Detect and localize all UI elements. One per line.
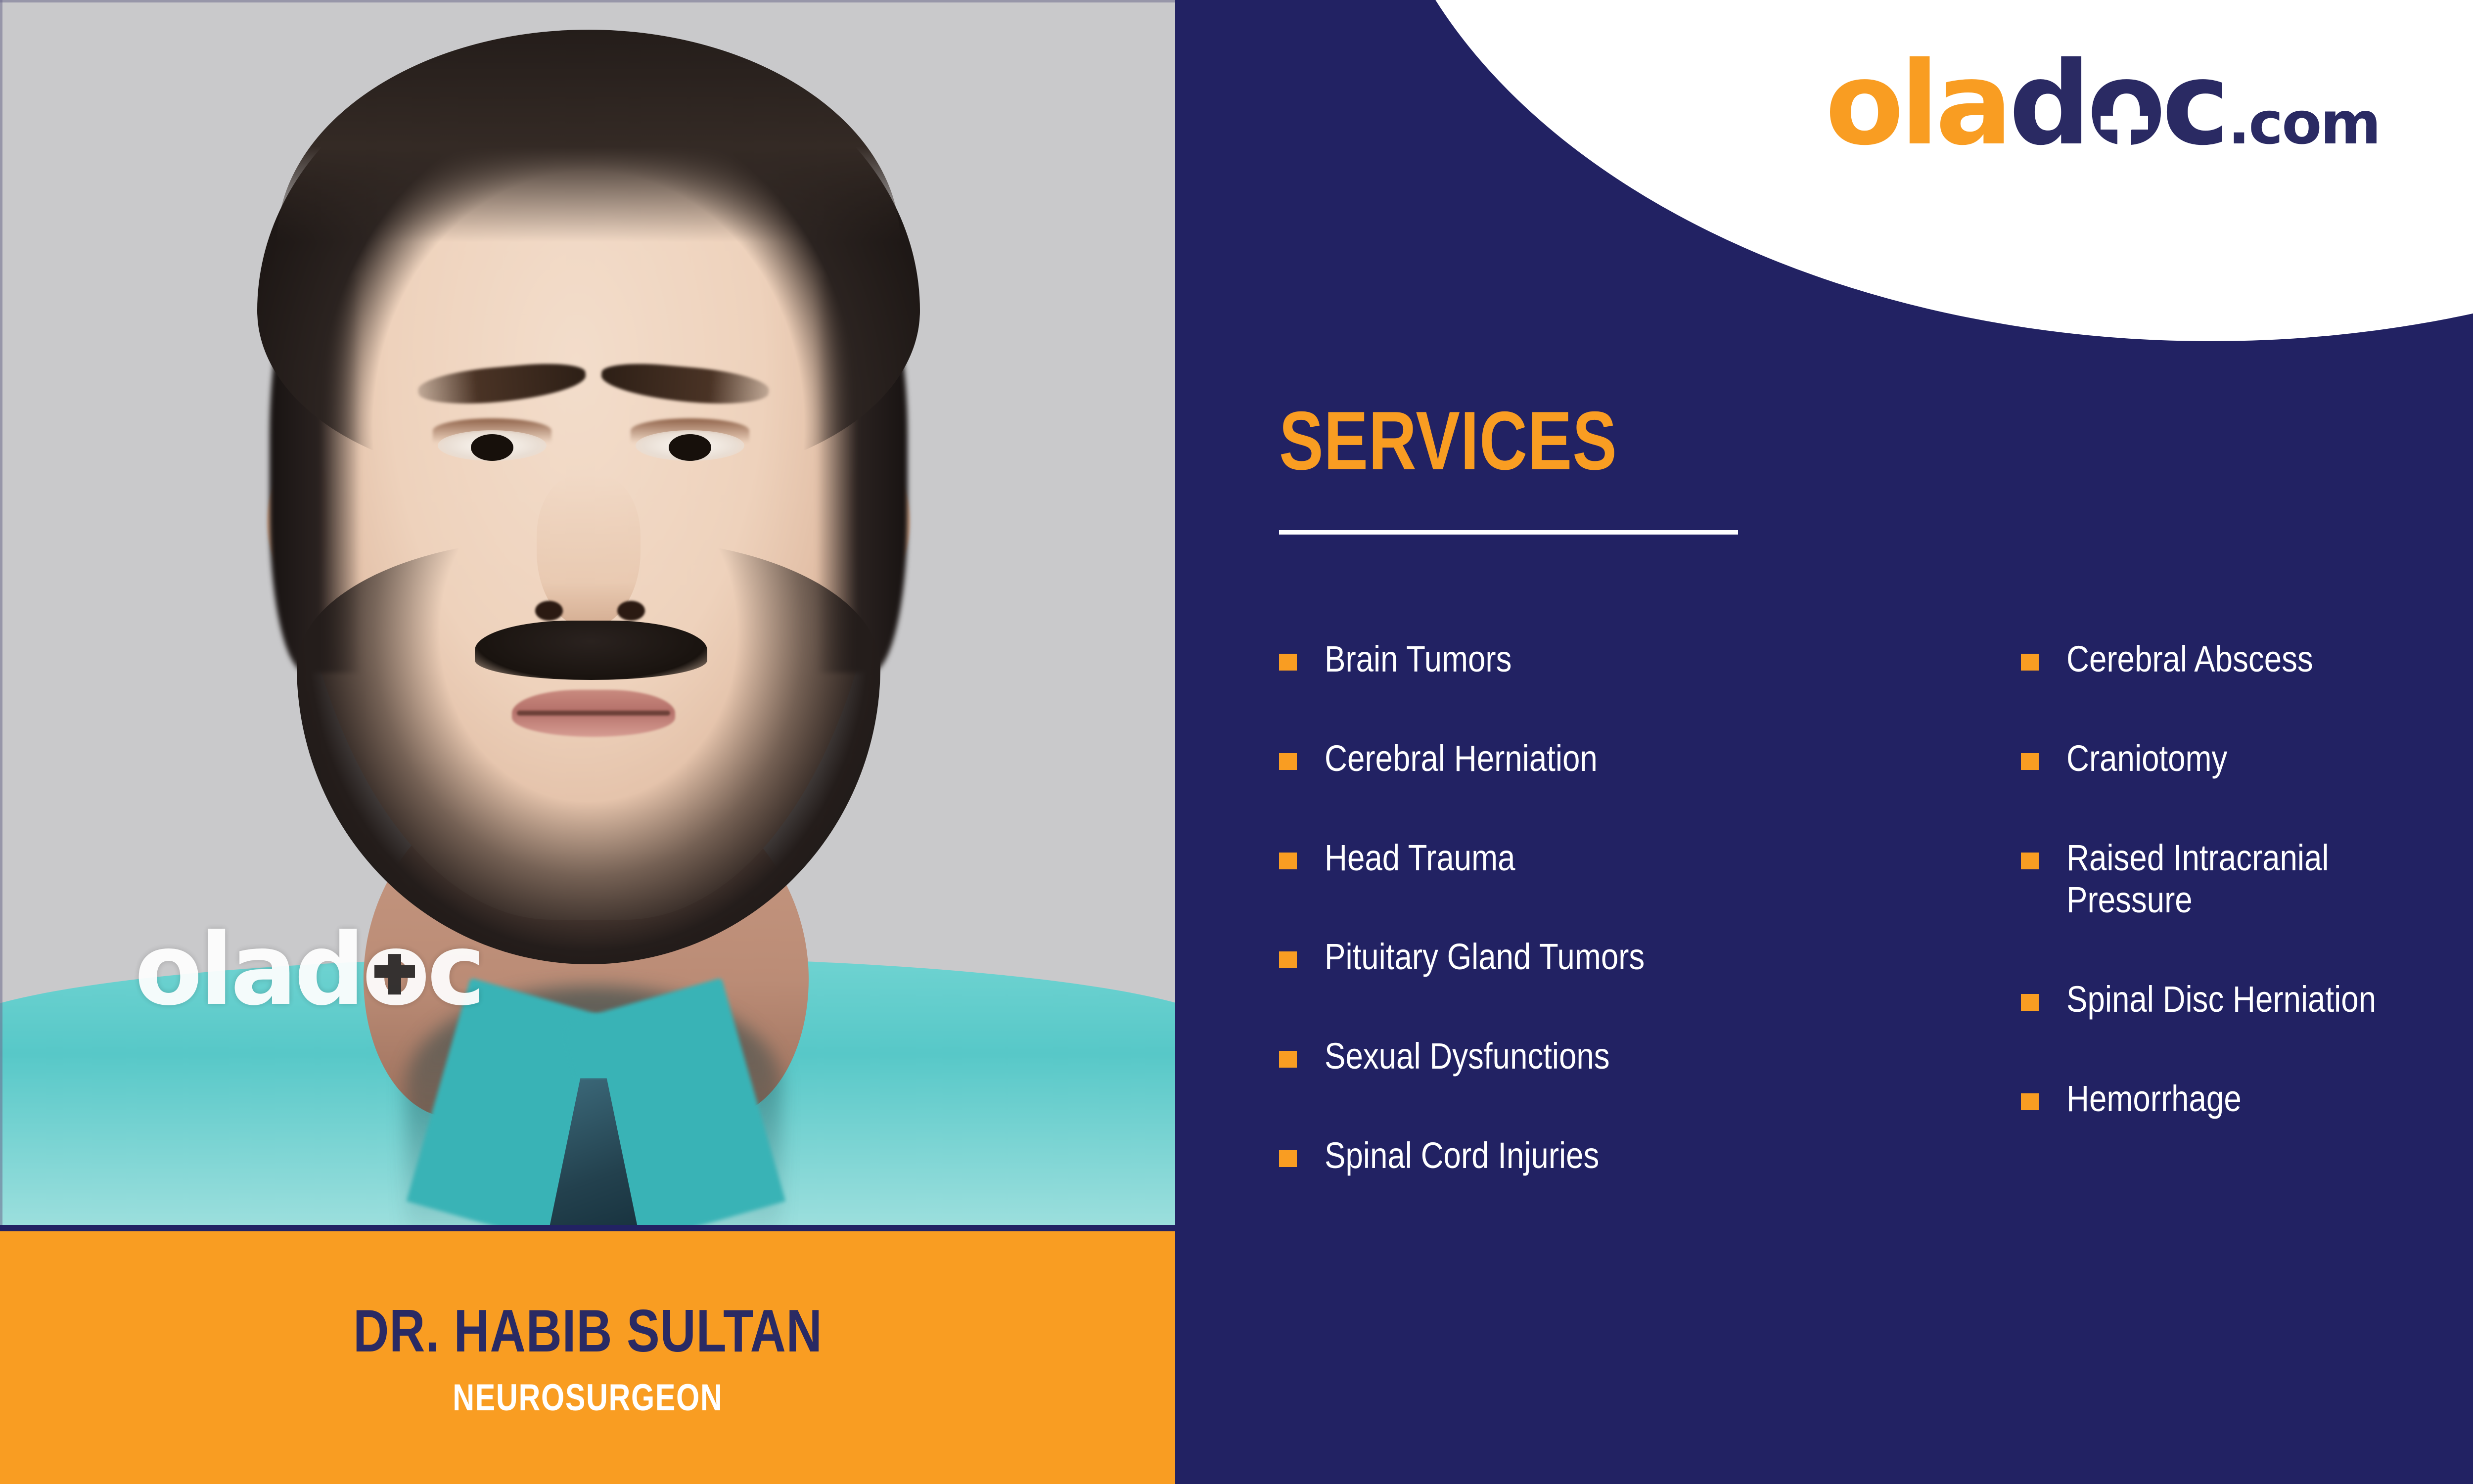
bullet-square-icon (2021, 994, 2039, 1011)
service-label: Brain Tumors (1325, 638, 1511, 680)
bullet-square-icon (2021, 654, 2039, 671)
bullet-square-icon (1279, 1051, 1297, 1068)
logo-text-d: d (2009, 37, 2087, 171)
service-item[interactable]: Pituitary Gland Tumors (1279, 936, 1981, 978)
service-label: Raised Intracranial Pressure (2066, 837, 2329, 922)
service-label: Craniotomy (2066, 737, 2227, 780)
bullet-square-icon (2021, 853, 2039, 869)
service-item[interactable]: Spinal Cord Injuries (1279, 1134, 1981, 1177)
service-item[interactable]: Craniotomy (2021, 737, 2473, 780)
hair-top-shape (277, 30, 900, 242)
service-label: Spinal Disc Herniation (2066, 978, 2376, 1021)
portrait-illustration (0, 0, 1175, 1225)
logo-o-with-cross-icon: o (2087, 37, 2162, 171)
logo-cross-horizontal (2101, 116, 2148, 130)
doctor-name-banner: DR. HABIB SULTAN NEUROSURGEON (0, 1231, 1175, 1484)
bullet-square-icon (1279, 654, 1297, 671)
service-label: Head Trauma (1325, 837, 1515, 879)
watermark-cross-horizontal (374, 965, 415, 978)
bullet-square-icon (1279, 853, 1297, 869)
oladoc-watermark: ola d o c (135, 912, 483, 1028)
logo-text-ola: ola (1825, 37, 2009, 171)
service-label: Cerebral Abscess (2066, 638, 2313, 680)
service-item[interactable]: Brain Tumors (1279, 638, 1981, 680)
oladoc-logo[interactable]: ola d o c .com (1825, 37, 2380, 171)
doctor-photo: ola d o c (0, 0, 1175, 1225)
doctor-specialty: NEUROSURGEON (453, 1376, 723, 1419)
service-item[interactable]: Sexual Dysfunctions (1279, 1035, 1981, 1078)
service-item[interactable]: Cerebral Abscess (2021, 638, 2473, 680)
service-item[interactable]: Raised Intracranial Pressure (2021, 837, 2473, 922)
logo-text-c: c (2162, 37, 2226, 171)
bullet-square-icon (1279, 753, 1297, 770)
watermark-text-d: d (294, 912, 362, 1028)
watermark-text-c: c (427, 912, 483, 1028)
moustache-shape (475, 621, 707, 680)
photo-top-border (0, 0, 1175, 2)
service-item[interactable]: Head Trauma (1279, 837, 1981, 879)
service-item[interactable]: Cerebral Herniation (1279, 737, 1981, 780)
photo-left-border (0, 0, 2, 1225)
service-item[interactable]: Hemorrhage (2021, 1078, 2473, 1120)
service-label: Hemorrhage (2066, 1078, 2242, 1120)
services-right-column: Cerebral Abscess Craniotomy Raised Intra… (2021, 638, 2473, 1177)
service-label: Cerebral Herniation (1325, 737, 1598, 780)
service-item[interactable]: Spinal Disc Herniation (2021, 978, 2473, 1021)
bullet-square-icon (2021, 753, 2039, 770)
bullet-square-icon (1279, 951, 1297, 968)
services-left-column: Brain Tumors Cerebral Herniation Head Tr… (1279, 638, 1981, 1234)
logo-text-tld: .com (2228, 89, 2380, 157)
promo-card: ola d o c .com (0, 0, 2473, 1484)
lip-line-shape (517, 711, 670, 716)
watermark-o-with-cross-icon: o (362, 912, 427, 1028)
service-label: Sexual Dysfunctions (1325, 1035, 1610, 1078)
bullet-square-icon (2021, 1093, 2039, 1110)
services-title: SERVICES (1279, 393, 1617, 489)
doctor-name: DR. HABIB SULTAN (353, 1296, 823, 1365)
pupil-left-shape (471, 434, 513, 461)
services-title-underline (1279, 530, 1738, 535)
service-label: Pituitary Gland Tumors (1325, 936, 1645, 978)
bullet-square-icon (1279, 1150, 1297, 1167)
service-label: Spinal Cord Injuries (1325, 1134, 1599, 1177)
pupil-right-shape (669, 434, 711, 461)
watermark-text-ola: ola (135, 912, 294, 1028)
